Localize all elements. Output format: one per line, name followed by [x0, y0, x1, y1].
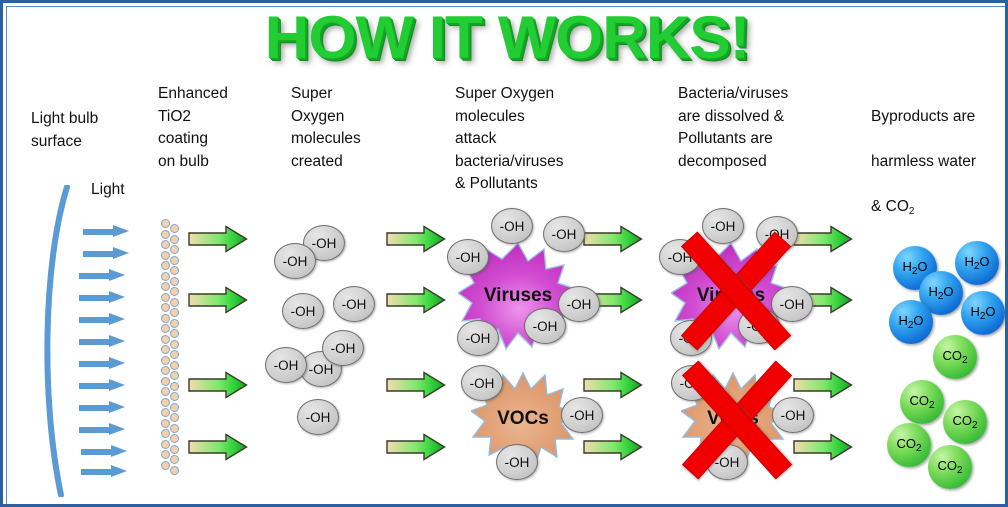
light-ray-arrow — [79, 269, 125, 282]
tio2-dot — [170, 235, 179, 244]
tio2-dot — [170, 287, 179, 296]
light-ray-arrow-shaft — [83, 229, 115, 235]
water-molecule: H2O — [955, 241, 999, 285]
tio2-dot — [161, 440, 170, 449]
process-arrow — [188, 371, 248, 399]
process-arrow — [386, 225, 446, 253]
oh-molecule: -OH — [297, 399, 339, 435]
oh-molecule: -OH — [447, 239, 489, 275]
tio2-dot — [161, 272, 170, 281]
caption-light-bulb-surface: Light bulb surface — [31, 108, 151, 153]
water-subscript: 2 — [974, 261, 980, 272]
tio2-dot — [161, 408, 170, 417]
tio2-dot — [161, 230, 170, 239]
water-subscript: 2 — [908, 320, 914, 331]
light-ray-arrow-head — [109, 269, 125, 281]
co2-molecule: CO2 — [928, 445, 972, 489]
light-bulb-surface-arc — [37, 185, 77, 497]
tio2-dot — [170, 329, 179, 338]
co2-label: CO2 — [937, 458, 962, 476]
tio2-dot — [170, 371, 179, 380]
tio2-dot — [170, 298, 179, 307]
tio2-dot — [170, 424, 179, 433]
light-ray-arrow-head — [109, 423, 125, 435]
water-subscript: 2 — [938, 291, 944, 302]
light-ray-arrow-shaft — [81, 469, 113, 475]
tio2-dot — [161, 419, 170, 428]
byproducts-line-3: & CO — [871, 198, 909, 215]
tio2-dot — [161, 240, 170, 249]
process-arrow — [188, 433, 248, 461]
co2-label: CO2 — [896, 436, 921, 454]
page-title: HOW IT WORKS! — [0, 7, 1008, 69]
light-ray-arrow-shaft — [79, 339, 111, 345]
light-ray-arrow-head — [109, 401, 125, 413]
light-ray-arrow-head — [113, 225, 129, 237]
light-ray-arrow — [79, 401, 125, 414]
co2-molecule: CO2 — [933, 335, 977, 379]
light-ray-arrow-shaft — [79, 427, 111, 433]
oh-molecule: -OH — [524, 308, 566, 344]
process-arrow — [793, 371, 853, 399]
tio2-dot — [161, 261, 170, 270]
tio2-dot — [170, 382, 179, 391]
caption-tio2-coating: Enhanced TiO2 coating on bulb — [158, 83, 278, 173]
light-ray-arrow — [81, 445, 127, 458]
light-ray-arrow — [79, 313, 125, 326]
oh-molecule: -OH — [496, 444, 538, 480]
tio2-dot — [170, 361, 179, 370]
tio2-dot — [161, 366, 170, 375]
co2-label: CO2 — [942, 348, 967, 366]
co2-subscript: 2 — [962, 355, 968, 366]
oh-molecule: -OH — [491, 208, 533, 244]
water-label: H2O — [898, 313, 923, 331]
water-subscript: 2 — [980, 311, 986, 322]
byproducts-line-2: harmless water — [871, 153, 976, 170]
tio2-dot — [170, 466, 179, 475]
light-ray-arrow-shaft — [81, 449, 113, 455]
light-ray-arrow-head — [111, 445, 127, 457]
tio2-dot — [161, 398, 170, 407]
process-arrow — [583, 433, 643, 461]
tio2-dot — [170, 403, 179, 412]
caption-dissolved-decomposed: Bacteria/viruses are dissolved & Polluta… — [678, 83, 858, 173]
tio2-dot — [170, 445, 179, 454]
tio2-dot — [161, 282, 170, 291]
tio2-dot — [161, 251, 170, 260]
tio2-dot — [170, 350, 179, 359]
oh-molecule: -OH — [457, 320, 499, 356]
tio2-dot — [170, 340, 179, 349]
light-ray-arrow — [79, 423, 125, 436]
water-label: H2O — [964, 254, 989, 272]
light-ray-arrow-head — [109, 291, 125, 303]
co2-label: CO2 — [909, 393, 934, 411]
process-arrow — [793, 433, 853, 461]
light-ray-arrow-shaft — [79, 361, 111, 367]
light-ray-arrow — [79, 379, 125, 392]
light-ray-arrow — [79, 357, 125, 370]
co2-subscript: 2 — [957, 465, 963, 476]
process-arrow — [793, 225, 853, 253]
process-arrow — [583, 371, 643, 399]
tio2-dot — [161, 461, 170, 470]
tio2-dot — [161, 314, 170, 323]
oh-molecule: -OH — [322, 330, 364, 366]
co2-subscript: 2 — [916, 443, 922, 454]
process-arrow — [188, 286, 248, 314]
tio2-dot — [161, 335, 170, 344]
co2-label: CO2 — [952, 413, 977, 431]
tio2-dot — [161, 345, 170, 354]
water-molecule: H2O — [961, 291, 1005, 335]
co2-molecule: CO2 — [900, 380, 944, 424]
oh-molecule: -OH — [333, 286, 375, 322]
tio2-dot — [170, 308, 179, 317]
light-ray-arrow-shaft — [79, 317, 111, 323]
tio2-dot — [170, 277, 179, 286]
water-label: H2O — [902, 259, 927, 277]
red-x-virus — [671, 221, 801, 361]
tio2-dot — [161, 324, 170, 333]
diagram-canvas: HOW IT WORKS! Light bulb surface Enhance… — [0, 0, 1008, 507]
tio2-dot — [170, 266, 179, 275]
caption-byproducts: Byproducts are harmless water & CO2 — [871, 83, 1008, 223]
light-ray-arrow-shaft — [79, 383, 111, 389]
process-arrow — [386, 286, 446, 314]
oh-molecule: -OH — [461, 365, 503, 401]
process-arrow — [386, 371, 446, 399]
co2-molecule: CO2 — [943, 400, 987, 444]
oh-molecule: -OH — [543, 216, 585, 252]
oh-molecule: -OH — [561, 397, 603, 433]
caption-molecules-attack: Super Oxygen molecules attack bacteria/v… — [455, 83, 630, 196]
tio2-dot — [170, 256, 179, 265]
co2-subscript: 2 — [972, 420, 978, 431]
water-label: H2O — [970, 304, 995, 322]
light-ray-arrow — [79, 291, 125, 304]
tio2-dot — [161, 293, 170, 302]
tio2-dot — [170, 413, 179, 422]
light-ray-arrow — [81, 465, 127, 478]
tio2-dot — [170, 245, 179, 254]
tio2-dot — [161, 387, 170, 396]
light-ray-arrow — [83, 225, 129, 238]
light-ray-arrow-head — [109, 357, 125, 369]
oh-molecule: -OH — [558, 286, 600, 322]
process-arrow — [583, 225, 643, 253]
caption-super-oxygen-created: Super Oxygen molecules created — [291, 83, 411, 173]
water-label: H2O — [928, 284, 953, 302]
tio2-dot — [161, 356, 170, 365]
tio2-dot — [161, 377, 170, 386]
tio2-dot — [170, 224, 179, 233]
byproducts-line-1: Byproducts are — [871, 108, 975, 125]
oh-molecule: -OH — [265, 347, 307, 383]
light-ray-arrow — [83, 247, 129, 260]
tio2-dot — [170, 319, 179, 328]
light-ray-arrow-head — [109, 313, 125, 325]
tio2-dot — [170, 455, 179, 464]
tio2-dot — [161, 219, 170, 228]
light-ray-arrow-head — [109, 379, 125, 391]
light-ray-arrow-shaft — [79, 295, 111, 301]
process-arrow — [188, 225, 248, 253]
label-light: Light — [91, 181, 125, 199]
water-subscript: 2 — [912, 266, 918, 277]
light-ray-arrow-shaft — [79, 405, 111, 411]
light-ray-arrow-head — [113, 247, 129, 259]
tio2-dot — [170, 434, 179, 443]
process-arrow — [386, 433, 446, 461]
light-ray-arrow-head — [109, 335, 125, 347]
tio2-dot — [161, 450, 170, 459]
light-ray-arrow-shaft — [79, 273, 111, 279]
light-ray-arrow — [79, 335, 125, 348]
tio2-dot — [161, 429, 170, 438]
byproducts-subscript: 2 — [909, 206, 915, 217]
red-x-voc — [675, 355, 799, 485]
tio2-dot — [161, 303, 170, 312]
light-ray-arrow-head — [111, 465, 127, 477]
oh-molecule: -OH — [274, 243, 316, 279]
light-ray-arrow-shaft — [83, 251, 115, 257]
water-molecule: H2O — [889, 300, 933, 344]
tio2-dot — [170, 392, 179, 401]
oh-molecule: -OH — [282, 293, 324, 329]
co2-subscript: 2 — [929, 400, 935, 411]
co2-molecule: CO2 — [887, 423, 931, 467]
